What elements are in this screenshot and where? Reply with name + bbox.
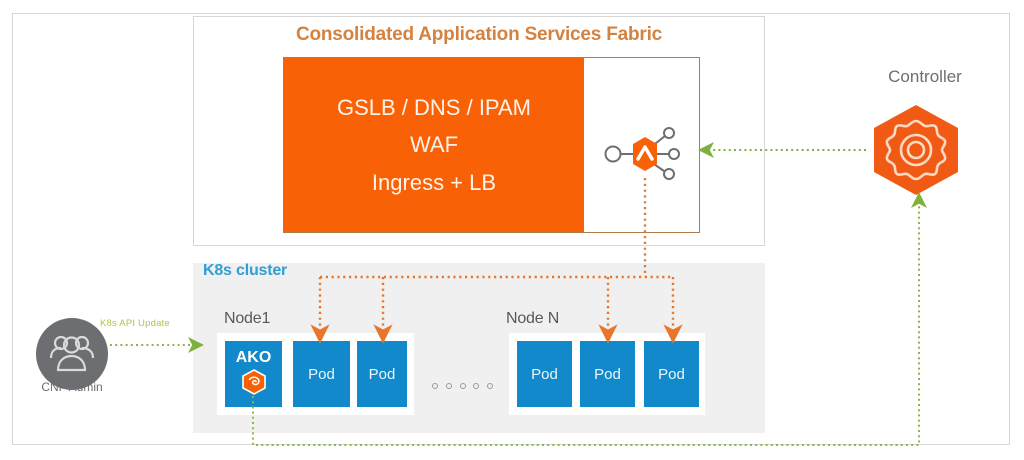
ako-hexagon-icon [241, 369, 267, 399]
gear-hexagon-icon [869, 103, 963, 197]
fabric-services-list: GSLB / DNS / IPAM WAF Ingress + LB [284, 58, 584, 232]
node-ellipsis-dots [432, 383, 494, 391]
diagram-canvas: Consolidated Application Services Fabric… [0, 0, 1024, 460]
pod-nodeN-2[interactable]: Pod [644, 341, 699, 407]
pod-node1-1[interactable]: Pod [293, 341, 350, 407]
admin-label: CNF Admin [12, 380, 132, 394]
ako-label: AKO [236, 350, 272, 366]
k8s-api-update-label: K8s API Update [100, 318, 170, 329]
pod-ako[interactable]: AKO [225, 341, 282, 407]
controller-label: Controller [845, 67, 1005, 87]
node-label-node1: Node1 [224, 310, 270, 328]
pod-nodeN-0[interactable]: Pod [517, 341, 572, 407]
pod-nodeN-1[interactable]: Pod [580, 341, 635, 407]
fabric-title: Consolidated Application Services Fabric [193, 24, 765, 46]
fabric-service-1: WAF [410, 132, 458, 157]
node-label-nodeN: Node N [506, 310, 559, 328]
k8s-cluster-title: K8s cluster [203, 262, 287, 280]
fabric-service-2: Ingress + LB [372, 170, 496, 195]
pod-node1-2[interactable]: Pod [357, 341, 407, 407]
fabric-service-0: GSLB / DNS / IPAM [337, 95, 531, 120]
service-engine-hexagon-icon [601, 123, 689, 185]
